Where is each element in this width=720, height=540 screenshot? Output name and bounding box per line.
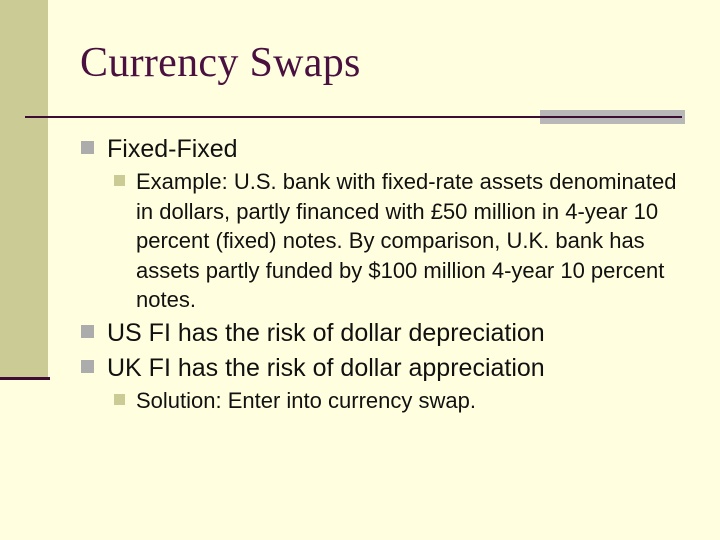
bullet-item-level2: Solution: Enter into currency swap. <box>0 386 720 416</box>
bullet-text: Example: U.S. bank with fixed-rate asset… <box>136 167 682 315</box>
slide-canvas: Currency Swaps Fixed-Fixed Example: U.S.… <box>0 0 720 540</box>
slide-body: Fixed-Fixed Example: U.S. bank with fixe… <box>0 132 720 416</box>
gray-square-bullet-icon <box>81 325 94 338</box>
bullet-item-level2: Example: U.S. bank with fixed-rate asset… <box>0 167 720 315</box>
title-divider-rule <box>25 116 682 118</box>
bullet-item-level1: US FI has the risk of dollar depreciatio… <box>0 316 720 350</box>
bullet-text: US FI has the risk of dollar depreciatio… <box>107 316 720 350</box>
slide-title: Currency Swaps <box>80 38 680 88</box>
olive-square-bullet-icon <box>114 394 125 405</box>
bullet-text: UK FI has the risk of dollar appreciatio… <box>107 351 720 385</box>
gray-square-bullet-icon <box>81 360 94 373</box>
olive-square-bullet-icon <box>114 175 125 186</box>
gray-square-bullet-icon <box>81 141 94 154</box>
bullet-text: Fixed-Fixed <box>107 132 720 166</box>
bullet-item-level1: Fixed-Fixed <box>0 132 720 166</box>
bullet-item-level1: UK FI has the risk of dollar appreciatio… <box>0 351 720 385</box>
bullet-text: Solution: Enter into currency swap. <box>136 386 682 416</box>
